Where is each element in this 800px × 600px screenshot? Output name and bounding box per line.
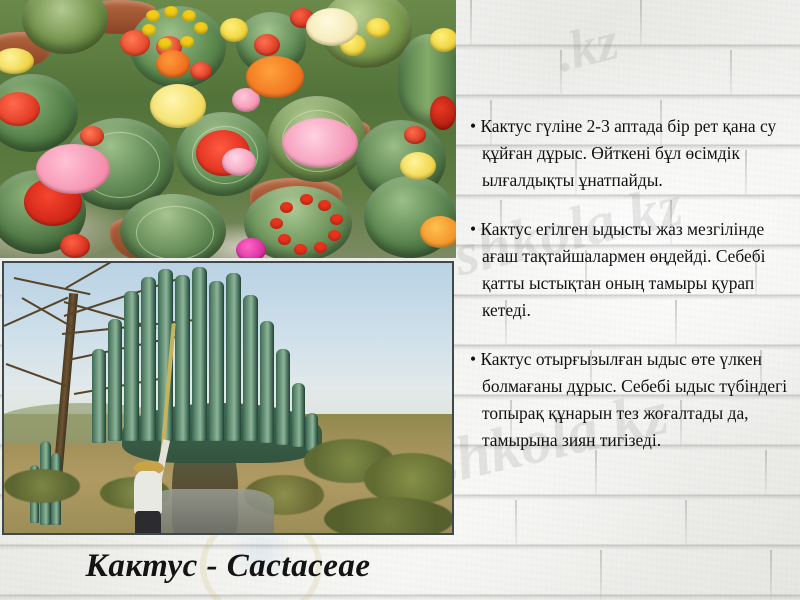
bullet-text-1: Кактус гүліне 2-3 аптада бір рет қана су… — [480, 116, 776, 190]
cactus-flower-orange — [420, 216, 456, 248]
cactus-column — [260, 321, 274, 443]
cactus-column — [124, 291, 139, 441]
cactus-column — [292, 383, 305, 447]
person-shirt — [134, 471, 162, 515]
text-column: • Кактус гүліне 2-3 аптада бір рет қана … — [470, 96, 790, 476]
cactus-flower-yellow — [150, 84, 206, 128]
cactus-flower-pink — [222, 148, 256, 176]
cactus-column — [192, 267, 207, 441]
cactus-flower-cream — [306, 8, 358, 46]
cactus-column — [175, 275, 190, 441]
cactus-column — [141, 277, 156, 441]
giant-cactus-photo — [2, 261, 454, 535]
scrub-bush — [324, 497, 454, 535]
bullet-marker-1: • — [470, 116, 480, 136]
scrub-bush — [4, 469, 80, 503]
cactus-flower-orange — [246, 56, 304, 98]
slide-caption: Кактус - Cactaceae — [0, 536, 456, 596]
bullet-paragraph-3: • Кактус отырғызылған ыдыс өте үлкен бол… — [470, 346, 790, 454]
bullet-text-2: Кактус егілген ыдысты жаз мезгілінде аға… — [480, 219, 765, 320]
bullet-text-3: Кактус отырғызылған ыдыс өте үлкен болма… — [480, 349, 787, 450]
bullet-marker-3: • — [470, 349, 480, 369]
cactus-column — [226, 273, 241, 441]
cactus-flower-red — [430, 96, 456, 130]
cactus-flower-pink — [36, 144, 110, 194]
bullet-marker-2: • — [470, 219, 480, 239]
bullet-paragraph-2: • Кактус егілген ыдысты жаз мезгілінде а… — [470, 216, 790, 324]
presentation-slide: .kz shkola.kz shkola.kz shkola.kz — [0, 0, 800, 600]
cactus-flower-red — [254, 34, 280, 56]
cacti-collection-photo — [0, 0, 456, 258]
cactus-column — [92, 349, 106, 443]
cactus-flower-red — [80, 126, 104, 146]
cactus-flower-ring-yellow — [136, 6, 212, 52]
person-pants — [135, 511, 161, 535]
cactus-flower-yellow — [430, 28, 456, 52]
cactus-flower-yellow — [366, 18, 390, 38]
cactus-flower-yellow — [220, 18, 248, 42]
cactus-flower-orange — [156, 50, 190, 78]
cactus-column — [108, 319, 122, 441]
cactus-flower-pink — [282, 118, 358, 168]
cactus-flower-ring — [268, 196, 344, 254]
cactus-flower-yellow — [400, 152, 436, 180]
cactus-flower-red — [190, 62, 212, 80]
cactus-flower-red — [404, 126, 426, 144]
cactus-column — [209, 281, 224, 441]
bullet-paragraph-1: • Кактус гүліне 2-3 аптада бір рет қана … — [470, 113, 790, 194]
cactus-spine-ring — [136, 206, 214, 258]
cactus-flower-magenta — [236, 238, 266, 258]
cactus-column — [276, 349, 290, 445]
cactus-column — [243, 295, 258, 441]
cactus-flower-red — [60, 234, 90, 258]
boulder — [154, 489, 274, 535]
